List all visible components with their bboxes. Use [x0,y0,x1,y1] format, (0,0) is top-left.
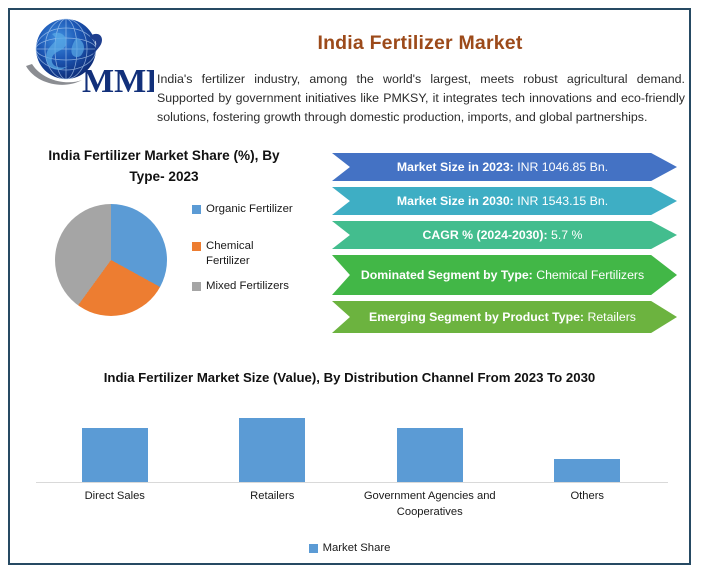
bar-column [554,410,620,482]
legend-item-organic-fertilizer: Organic Fertilizer [192,202,327,217]
bar-x-label: Direct Sales [36,488,194,504]
banner-market-size-2030: Market Size in 2030: INR 1543.15 Bn. [332,187,677,215]
legend-swatch-chemical-icon [192,242,201,251]
banner-label-cagr: CAGR % (2024-2030): [423,228,548,242]
infographic-frame: MMR India Fertilizer Market India's fert… [8,8,691,565]
banner-cagr: CAGR % (2024-2030): 5.7 % [332,221,677,249]
mmr-globe-logo: MMR [22,14,154,100]
legend-label-chemical: Chemical Fertilizer [206,239,284,269]
pie-chart-legend: Organic Fertilizer Chemical Fertilizer M… [192,202,327,294]
pie-chart [55,204,167,316]
bar-x-label: Government Agencies and Cooperatives [351,488,509,520]
page-title: India Fertilizer Market [160,32,680,55]
legend-swatch-organic-icon [192,205,201,214]
legend-label-market-share: Market Share [323,542,391,554]
bar-chart-legend: Market Share [10,542,689,554]
banner-market-size-2023: Market Size in 2023: INR 1046.85 Bn. [332,153,677,181]
bar [82,428,148,482]
legend-item-chemical-fertilizer: Chemical Fertilizer [192,239,327,269]
bar-column [397,410,463,482]
bar-chart-title: India Fertilizer Market Size (Value), By… [10,370,689,385]
bar-chart-section: India Fertilizer Market Size (Value), By… [10,362,689,562]
legend-label-organic: Organic Fertilizer [206,202,293,217]
bar [239,418,305,482]
banner-label-emerging-segment: Emerging Segment by Product Type: [369,310,584,324]
bar-chart-plot [36,410,666,482]
banner-label-market-size-2030: Market Size in 2030: [397,194,514,208]
banner-emerging-segment: Emerging Segment by Product Type: Retail… [332,301,677,333]
key-metrics-banners: Market Size in 2023: INR 1046.85 Bn. Mar… [332,153,677,339]
bar-x-label: Others [509,488,667,504]
bar-chart-x-labels: Direct SalesRetailersGovernment Agencies… [36,488,666,530]
bar-column [82,410,148,482]
banner-value-dominated-segment: Chemical Fertilizers [536,268,644,282]
bar-x-label: Retailers [194,488,352,504]
bar-column [239,410,305,482]
market-description: India's fertilizer industry, among the w… [157,70,685,127]
bar [554,459,620,482]
bar-chart-axis-line [36,482,668,483]
legend-label-mixed: Mixed Fertilizers [206,279,289,294]
svg-text:MMR: MMR [82,63,154,100]
pie-chart-section: India Fertilizer Market Share (%), By Ty… [24,140,324,355]
banner-dominated-segment: Dominated Segment by Type: Chemical Fert… [332,255,677,295]
legend-item-mixed-fertilizers: Mixed Fertilizers [192,279,327,294]
banner-label-dominated-segment: Dominated Segment by Type: [361,268,533,282]
legend-swatch-mixed-icon [192,282,201,291]
banner-value-emerging-segment: Retailers [587,310,636,324]
bar [397,428,463,482]
header: MMR India Fertilizer Market India's fert… [10,10,689,132]
banner-value-market-size-2023: INR 1046.85 Bn. [517,160,608,174]
banner-label-market-size-2023: Market Size in 2023: [397,160,514,174]
legend-swatch-market-share-icon [309,544,318,553]
pie-chart-title: India Fertilizer Market Share (%), By Ty… [40,145,288,187]
banner-value-market-size-2030: INR 1543.15 Bn. [517,194,608,208]
banner-value-cagr: 5.7 % [551,228,582,242]
